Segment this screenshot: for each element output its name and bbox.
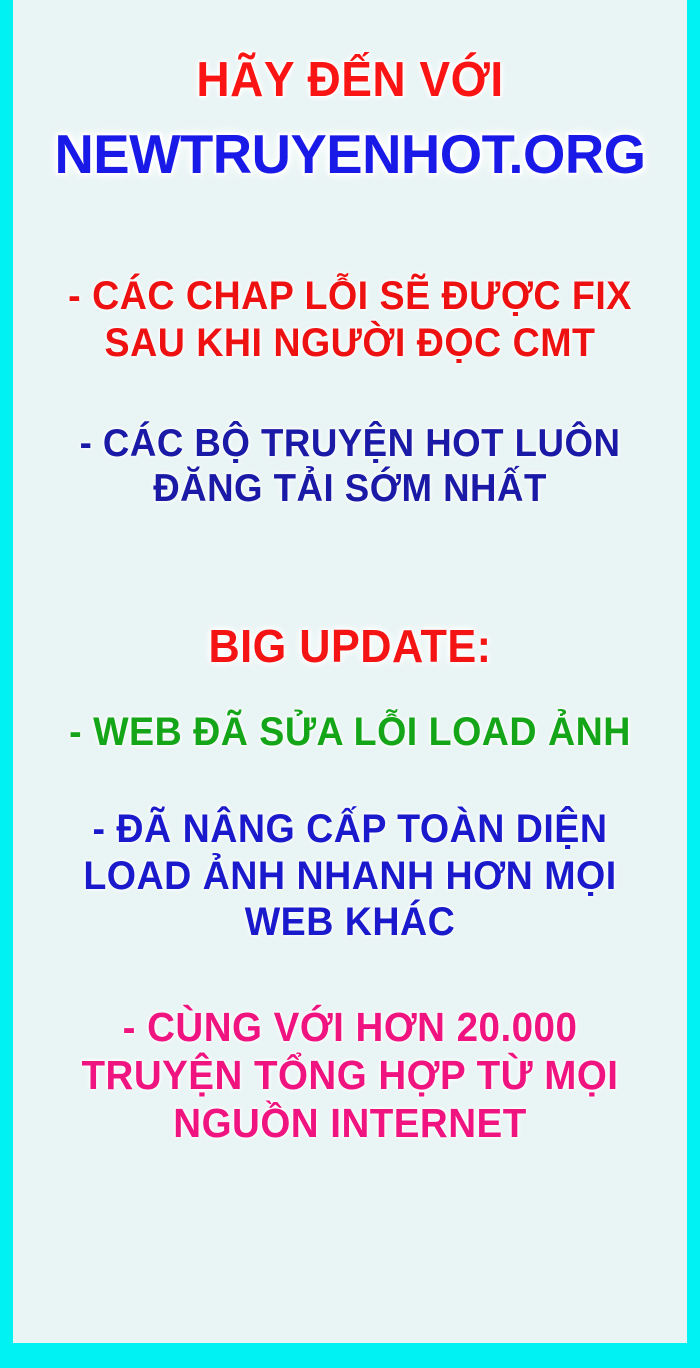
update-item-full-upgrade-line-1: - ĐÃ NÂNG CẤP TOÀN DIỆN bbox=[33, 809, 667, 850]
fix-notice-line-2: SAU KHI NGƯỜI ĐỌC CMT bbox=[33, 323, 667, 364]
tagline-text: HÃY ĐẾN VỚI bbox=[33, 56, 667, 106]
update-item-full-upgrade-line-3: WEB KHÁC bbox=[33, 902, 667, 943]
hot-notice-line-1: - CÁC BỘ TRUYỆN HOT LUÔN bbox=[33, 424, 667, 464]
promo-content-panel: HÃY ĐẾN VỚI NEWTRUYENHOT.ORG - CÁC CHAP … bbox=[13, 0, 687, 1343]
update-item-image-load-fix: - WEB ĐÃ SỬA LỖI LOAD ẢNH bbox=[33, 712, 667, 753]
update-item-story-count-line-2: TRUYỆN TỔNG HỢP TỪ MỌI bbox=[33, 1055, 667, 1097]
update-item-story-count-line-3: NGUỒN INTERNET bbox=[33, 1103, 667, 1145]
fix-notice-line-1: - CÁC CHAP LỖI SẼ ĐƯỢC FIX bbox=[33, 276, 667, 317]
site-domain-text[interactable]: NEWTRUYENHOT.ORG bbox=[16, 126, 683, 182]
update-item-full-upgrade-line-2: LOAD ẢNH NHANH HƠN MỌI bbox=[33, 856, 667, 897]
big-update-title: BIG UPDATE: bbox=[33, 623, 667, 670]
hot-notice-line-2: ĐĂNG TẢI SỚM NHẤT bbox=[33, 469, 667, 509]
promo-banner: HÃY ĐẾN VỚI NEWTRUYENHOT.ORG - CÁC CHAP … bbox=[0, 0, 700, 1368]
update-item-story-count-line-1: - CÙNG VỚI HƠN 20.000 bbox=[33, 1007, 667, 1049]
